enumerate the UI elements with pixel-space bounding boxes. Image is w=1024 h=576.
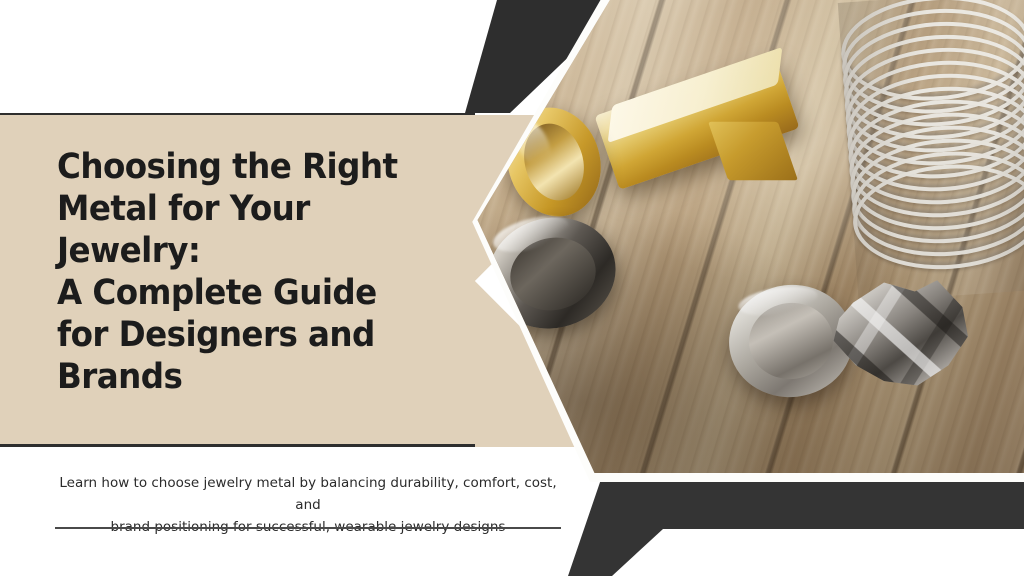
panel-bottom-rule — [0, 444, 475, 447]
title-line-6: Brands — [57, 356, 448, 398]
subtitle-line-1: Learn how to choose jewelry metal by bal… — [55, 472, 561, 516]
banner-canvas: Choosing the Right Metal for Your Jewelr… — [0, 0, 1024, 576]
title-line-5: for Designers and — [57, 314, 448, 356]
title-line-3: Jewelry: — [57, 230, 448, 272]
title-line-2: Metal for Your — [57, 188, 448, 230]
title-line-4: A Complete Guide — [57, 272, 448, 314]
subtitle-divider — [55, 527, 561, 529]
page-title: Choosing the Right Metal for Your Jewelr… — [57, 146, 477, 398]
title-line-1: Choosing the Right — [57, 146, 448, 188]
